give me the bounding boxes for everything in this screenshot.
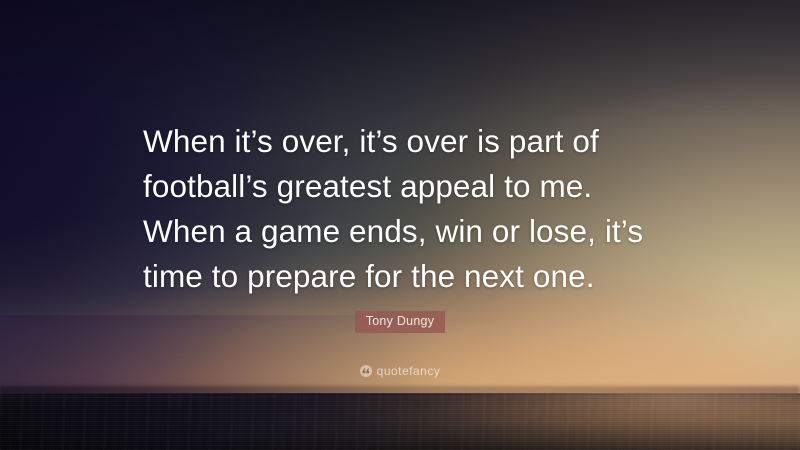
quote-line-1: When it’s over, it’s over is part of <box>143 119 683 164</box>
quotefancy-watermark: quotefancy <box>0 365 800 377</box>
quote-text-block: When it’s over, it’s over is part of foo… <box>143 119 683 299</box>
overlay-content: When it’s over, it’s over is part of foo… <box>0 0 800 450</box>
author-name-badge: Tony Dungy <box>355 311 446 333</box>
quotefancy-brand-text: quotefancy <box>377 365 441 377</box>
author-attribution: Tony Dungy <box>0 311 800 333</box>
quote-line-2: football’s greatest appeal to me. <box>143 164 683 209</box>
quote-line-3: When a game ends, win or lose, it’s <box>143 209 683 254</box>
quote-mark-icon <box>360 365 372 377</box>
quote-image-canvas: When it’s over, it’s over is part of foo… <box>0 0 800 450</box>
quote-line-4: time to prepare for the next one. <box>143 254 683 299</box>
